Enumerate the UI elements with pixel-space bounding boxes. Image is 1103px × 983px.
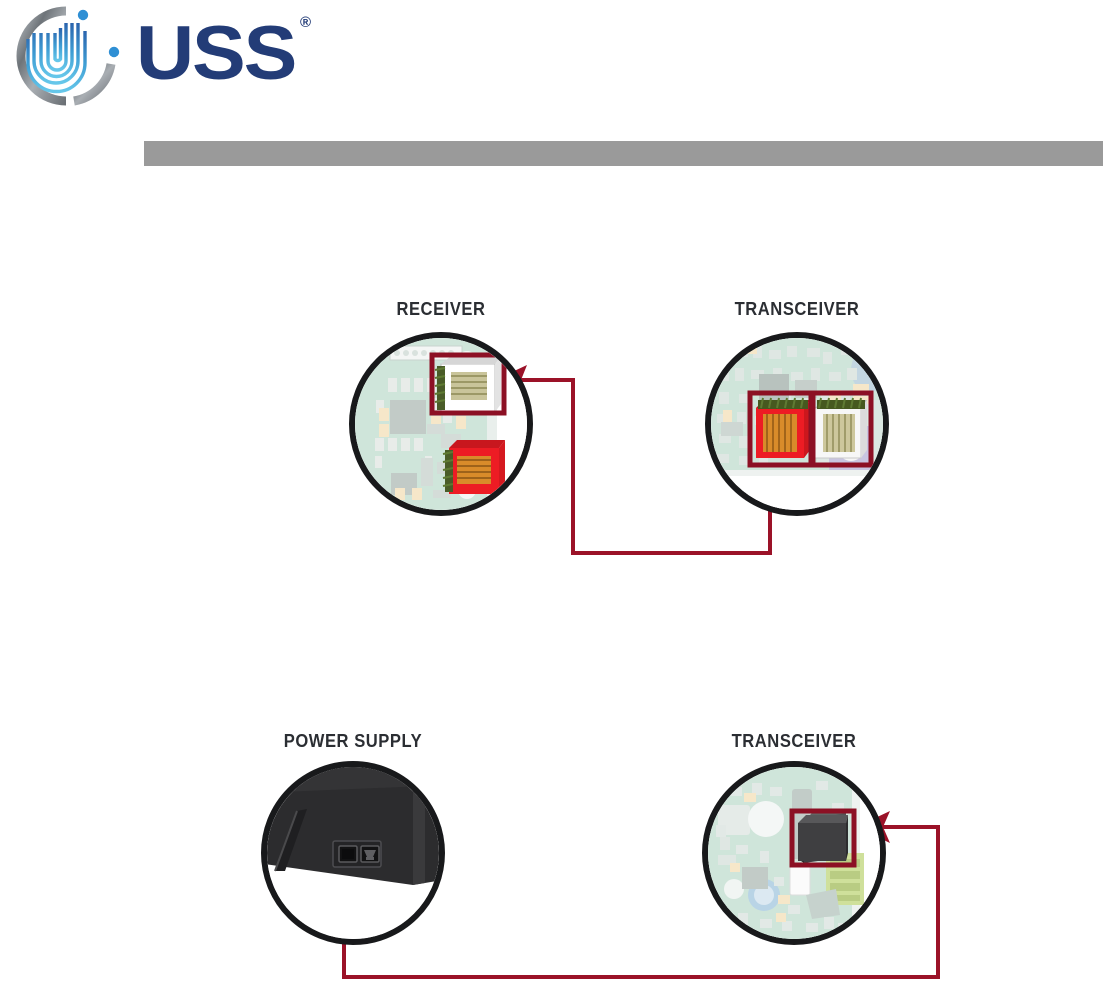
brand-header: USS ® bbox=[0, 0, 350, 108]
transceiver-network-port-red bbox=[756, 398, 810, 458]
node-label-receiver: RECEIVER bbox=[349, 299, 533, 320]
node-label-power-supply: POWER SUPPLY bbox=[261, 731, 445, 752]
registered-trademark-icon: ® bbox=[300, 14, 311, 31]
brand-wordmark: USS bbox=[136, 12, 295, 96]
node-label-transceiver-bottom: TRANSCEIVER bbox=[702, 731, 886, 752]
transceiver-power-jack-black bbox=[798, 813, 848, 863]
node-label-transceiver-top: TRANSCEIVER bbox=[705, 299, 889, 320]
transceiver-network-port-white bbox=[815, 398, 867, 458]
uss-logo-mark-icon bbox=[4, 6, 128, 106]
node-transceiver-bottom bbox=[702, 761, 886, 945]
section-banner-bar bbox=[144, 141, 1103, 166]
node-power-supply bbox=[261, 761, 445, 945]
receiver-network-port-white bbox=[435, 356, 501, 412]
receiver-network-port-red bbox=[443, 440, 505, 494]
node-receiver bbox=[349, 332, 533, 516]
node-transceiver-top bbox=[705, 332, 889, 516]
